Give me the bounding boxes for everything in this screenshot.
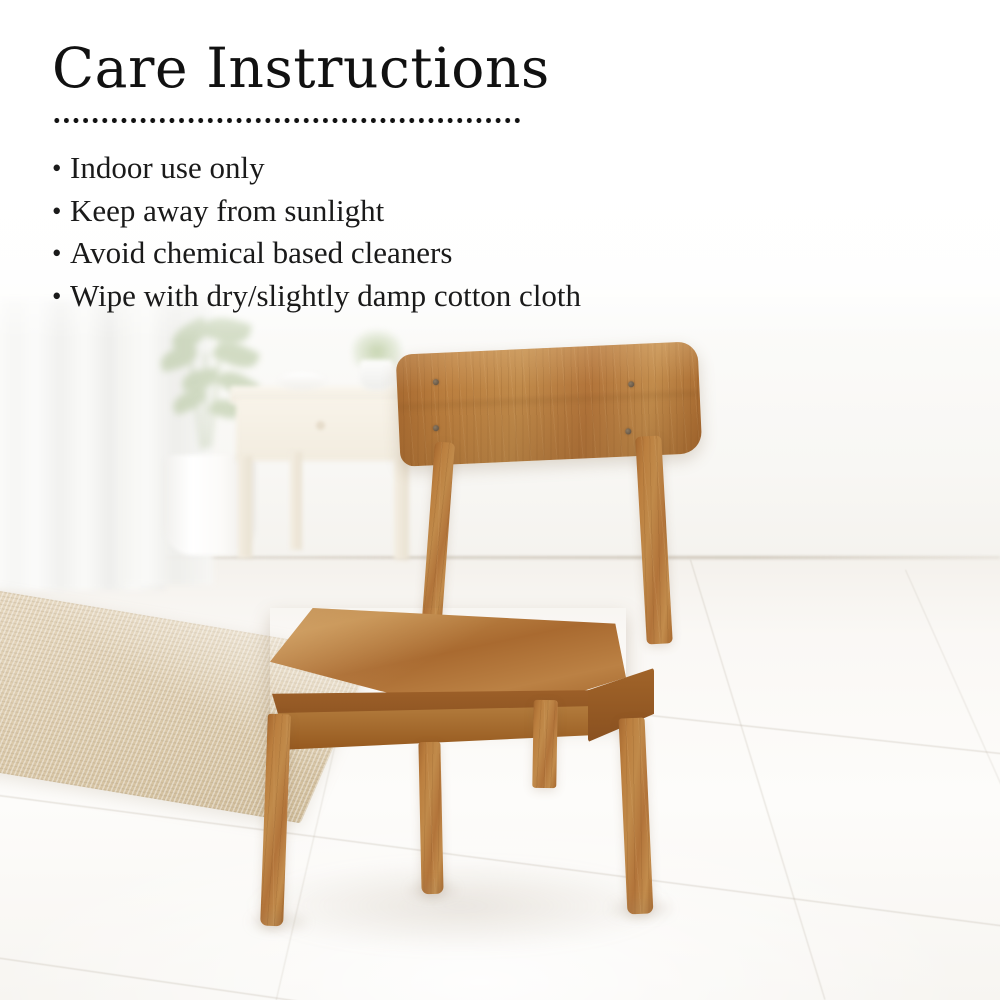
bullet-marker-icon: • — [52, 275, 70, 318]
list-item-label: Avoid chemical based cleaners — [70, 235, 452, 270]
bullet-marker-icon: • — [52, 190, 70, 233]
chair-back-stile-left — [421, 442, 455, 633]
wood-grain-texture — [532, 700, 558, 788]
wood-grain-texture — [421, 442, 455, 633]
list-item: •Avoid chemical based cleaners — [52, 232, 832, 275]
leg-contact-shadow — [612, 902, 670, 916]
care-instruction-list: •Indoor use only •Keep away from sunligh… — [52, 147, 832, 317]
chair-back-stile-right — [635, 435, 673, 644]
leg-contact-shadow — [410, 884, 456, 896]
chair-leg-back-left — [532, 700, 558, 788]
page-title: Care Instructions — [52, 36, 550, 100]
list-item: •Keep away from sunlight — [52, 190, 832, 233]
leg-contact-shadow — [252, 915, 306, 929]
wood-grain-texture — [418, 742, 443, 894]
care-instructions-card: Care Instructions •Indoor use only •Keep… — [0, 0, 1000, 1000]
list-item: •Wipe with dry/slightly damp cotton clot… — [52, 275, 832, 318]
list-item-label: Keep away from sunlight — [70, 193, 384, 228]
list-item-label: Wipe with dry/slightly damp cotton cloth — [70, 278, 581, 313]
dotted-divider — [52, 118, 524, 123]
chair-floor-shadow — [250, 860, 670, 952]
bullet-marker-icon: • — [52, 232, 70, 275]
list-item-label: Indoor use only — [70, 150, 265, 185]
chair-leg-front-right — [418, 742, 443, 894]
wood-grain-texture — [635, 435, 673, 644]
bullet-marker-icon: • — [52, 147, 70, 190]
list-item: •Indoor use only — [52, 147, 832, 190]
